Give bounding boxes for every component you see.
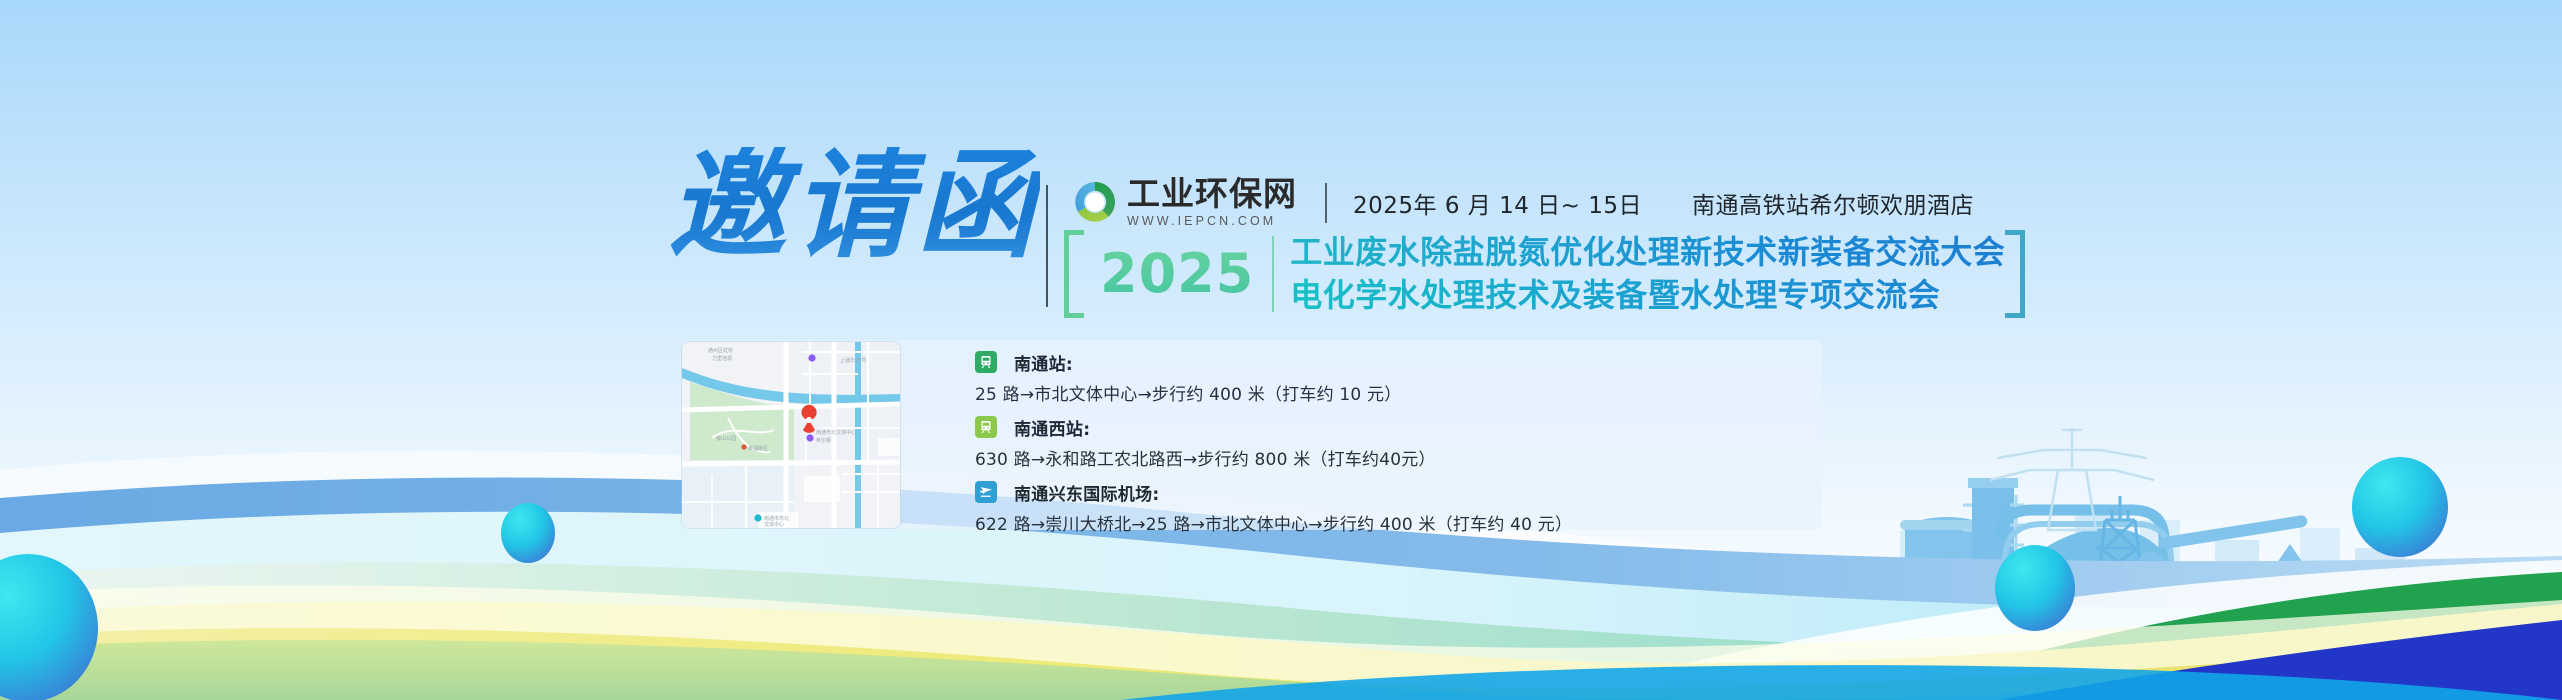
conference-title-line-2: 电化学水处理技术及装备暨水处理专项交流会: [1290, 274, 2005, 317]
svg-text:狼山公园: 狼山公园: [716, 435, 736, 442]
svg-text:南通市市北: 南通市市北: [764, 515, 789, 522]
page-title: 邀请函: [668, 147, 1040, 265]
svg-text:力里地源: 力里地源: [712, 355, 732, 362]
svg-text:通州区虹桥: 通州区虹桥: [708, 347, 733, 354]
invitation-banner: 通州区虹桥力里地源 狼山公园幸福街区 上通华27号南通市北文体中心 希尔顿南通市…: [0, 0, 2562, 700]
route-detail: 622 路→崇川大桥北→25 路→市北文体中心→步行约 400 米（打车约 40…: [975, 510, 1755, 535]
svg-text:南通市北文体中心: 南通市北文体中心: [816, 429, 856, 436]
meta-row: 工业环保网 WWW.IEPCN.COM 2025年 6 月 14 日~ 15日 …: [1072, 173, 1974, 233]
venue-location-map[interactable]: 通州区虹桥力里地源 狼山公园幸福街区 上通华27号南通市北文体中心 希尔顿南通市…: [682, 342, 900, 528]
route-item-nantong-west-station: 南通西站: 630 路→永和路工农北路西→步行约 800 米（打车约40元）: [975, 415, 1755, 470]
svg-text:文体中心: 文体中心: [764, 521, 784, 528]
route-detail: 630 路→永和路工农北路西→步行约 800 米（打车约40元）: [975, 445, 1755, 470]
route-list: 南通站: 25 路→市北文体中心→步行约 400 米（打车约 10 元） 南通西…: [975, 350, 1755, 545]
year-divider: [1272, 236, 1274, 312]
meta-separator: [1325, 183, 1327, 223]
decor-sphere-small: [501, 503, 555, 563]
airplane-icon: [975, 481, 997, 503]
train-icon: [975, 351, 997, 373]
brand-logo[interactable]: 工业环保网 WWW.IEPCN.COM: [1072, 177, 1297, 229]
conference-title-line-1: 工业废水除盐脱氮优化处理新技术新装备交流大会: [1290, 231, 2005, 274]
bracket-left: [1064, 230, 1084, 318]
svg-text:希尔顿: 希尔顿: [816, 437, 831, 444]
route-item-nantong-station: 南通站: 25 路→市北文体中心→步行约 400 米（打车约 10 元）: [975, 350, 1755, 405]
conference-title-block: 2025 工业废水除盐脱氮优化处理新技术新装备交流大会 电化学水处理技术及装备暨…: [1064, 230, 2025, 318]
brand-name: 工业环保网: [1127, 177, 1297, 211]
route-item-xingdong-airport: 南通兴东国际机场: 622 路→崇川大桥北→25 路→市北文体中心→步行约 40…: [975, 480, 1755, 535]
decor-sphere-mid: [1995, 545, 2075, 631]
decor-sphere-right: [2352, 457, 2448, 557]
bracket-right: [2005, 230, 2025, 318]
event-date: 2025年 6 月 14 日~ 15日: [1353, 186, 1642, 220]
vertical-divider: [1046, 185, 1048, 307]
route-label: 南通西站:: [1014, 415, 1090, 440]
event-year: 2025: [1100, 230, 1254, 318]
headline-block: 邀请函: [668, 155, 2228, 320]
route-label: 南通兴东国际机场:: [1014, 480, 1160, 505]
brand-website: WWW.IEPCN.COM: [1127, 213, 1297, 229]
route-detail: 25 路→市北文体中心→步行约 400 米（打车约 10 元）: [975, 380, 1755, 405]
svg-text:上通华27号: 上通华27号: [840, 357, 866, 364]
route-label: 南通站:: [1014, 350, 1073, 375]
event-venue: 南通高铁站希尔顿欢朋酒店: [1692, 186, 1974, 220]
circular-swirl-logo-icon: [1072, 179, 1118, 225]
svg-text:幸福街区: 幸福街区: [748, 445, 768, 452]
train-icon: [975, 416, 997, 438]
